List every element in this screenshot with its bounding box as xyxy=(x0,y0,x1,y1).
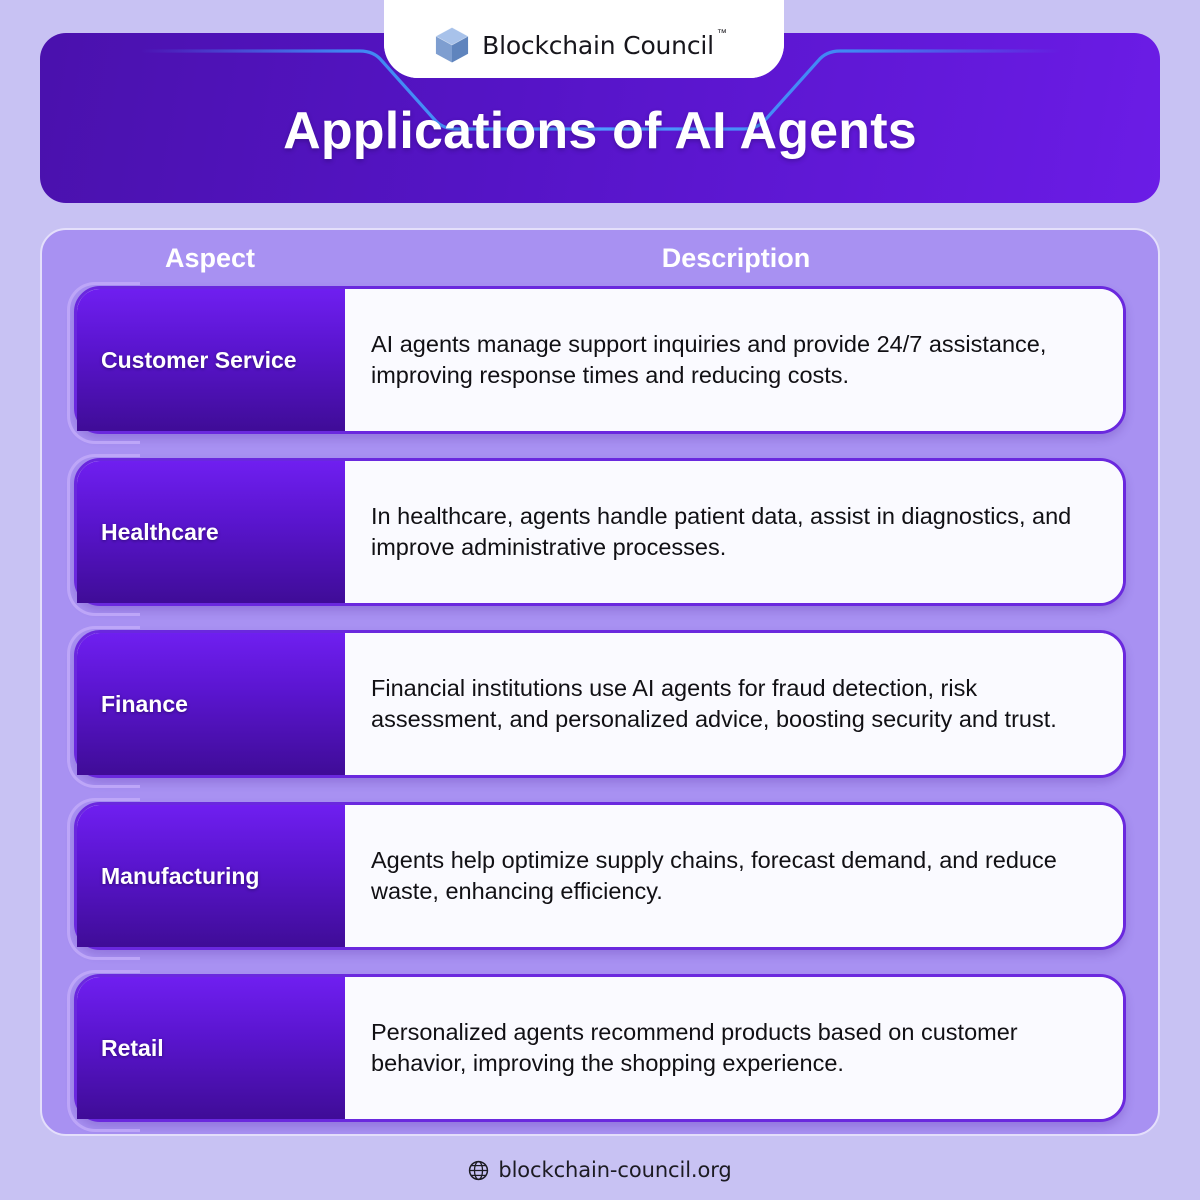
row-aspect-cell: Finance xyxy=(77,633,345,775)
table-row: Retail Personalized agents recommend pro… xyxy=(74,974,1126,1122)
brand-logo: Blockchain Council ™ xyxy=(433,26,735,64)
page-title: Applications of AI Agents xyxy=(40,101,1160,161)
footer-url: blockchain-council.org xyxy=(498,1158,731,1182)
row-description-cell: Financial institutions use AI agents for… xyxy=(345,633,1123,775)
row-aspect-cell: Manufacturing xyxy=(77,805,345,947)
table-column-headers: Aspect Description xyxy=(74,230,1126,286)
table-row: Manufacturing Agents help optimize suppl… xyxy=(74,802,1126,950)
row-aspect-cell: Retail xyxy=(77,977,345,1119)
table-card: Aspect Description Customer Service AI a… xyxy=(40,228,1160,1136)
table-row: Finance Financial institutions use AI ag… xyxy=(74,630,1126,778)
row-description-cell: In healthcare, agents handle patient dat… xyxy=(345,461,1123,603)
table-row: Customer Service AI agents manage suppor… xyxy=(74,286,1126,434)
row-description-cell: Personalized agents recommend products b… xyxy=(345,977,1123,1119)
infographic-poster: Applications of AI Agents Blockchain Cou… xyxy=(0,0,1200,1200)
row-aspect-cell: Customer Service xyxy=(77,289,345,431)
table-rows: Customer Service AI agents manage suppor… xyxy=(74,286,1126,1122)
trademark-symbol: ™ xyxy=(717,28,727,39)
row-description-cell: Agents help optimize supply chains, fore… xyxy=(345,805,1123,947)
table-row: Healthcare In healthcare, agents handle … xyxy=(74,458,1126,606)
row-description-cell: AI agents manage support inquiries and p… xyxy=(345,289,1123,431)
logo-notch: Blockchain Council ™ xyxy=(384,0,784,78)
brand-name: Blockchain Council xyxy=(482,31,714,60)
row-aspect-cell: Healthcare xyxy=(77,461,345,603)
footer: blockchain-council.org xyxy=(0,1158,1200,1182)
cube-icon xyxy=(433,26,471,64)
globe-icon xyxy=(468,1160,489,1181)
column-header-description: Description xyxy=(346,243,1126,274)
column-header-aspect: Aspect xyxy=(74,243,346,274)
